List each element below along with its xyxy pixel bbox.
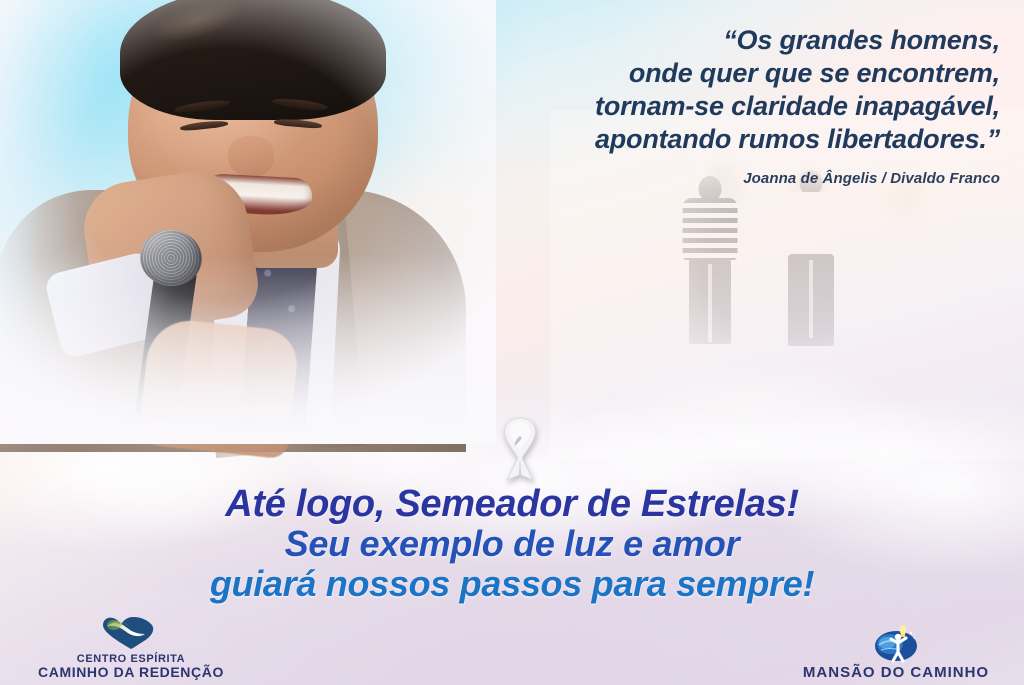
headline-block: Até logo, Semeador de Estrelas! Seu exem… xyxy=(0,484,1024,604)
quote-line-1: “Os grandes homens, xyxy=(440,24,1000,57)
logo-mansao-text: MANSÃO DO CAMINHO xyxy=(780,666,1012,679)
quote-attribution: Joanna de Ângelis / Divaldo Franco xyxy=(440,170,1000,187)
logo-mansao-do-caminho: MANSÃO DO CAMINHO xyxy=(780,623,1012,679)
white-ribbon-icon xyxy=(489,412,551,484)
globe-figure-torch-icon xyxy=(867,623,925,663)
headline-line-1: Até logo, Semeador de Estrelas! xyxy=(0,484,1024,524)
logo-centro-espirita: CENTRO ESPÍRITA CAMINHO DA REDENÇÃO xyxy=(8,616,254,679)
tribute-poster: “Os grandes homens, onde quer que se enc… xyxy=(0,0,1024,685)
quote-line-3: tornam-se claridade inapagável, xyxy=(440,90,1000,123)
portrait-vignette-fade xyxy=(0,0,496,444)
quote-line-4: apontando rumos libertadores.” xyxy=(440,123,1000,156)
heart-hands-icon xyxy=(100,616,162,650)
logo-line-2: CAMINHO DA REDENÇÃO xyxy=(8,666,254,679)
quote-block: “Os grandes homens, onde quer que se enc… xyxy=(440,24,1000,187)
quote-line-2: onde quer que se encontrem, xyxy=(440,57,1000,90)
logo-centro-espirita-text: CENTRO ESPÍRITA CAMINHO DA REDENÇÃO xyxy=(8,653,254,679)
headline-line-3: guiará nossos passos para sempre! xyxy=(0,564,1024,604)
headline-line-2: Seu exemplo de luz e amor xyxy=(0,524,1024,564)
portrait-divaldo-franco xyxy=(0,0,496,444)
